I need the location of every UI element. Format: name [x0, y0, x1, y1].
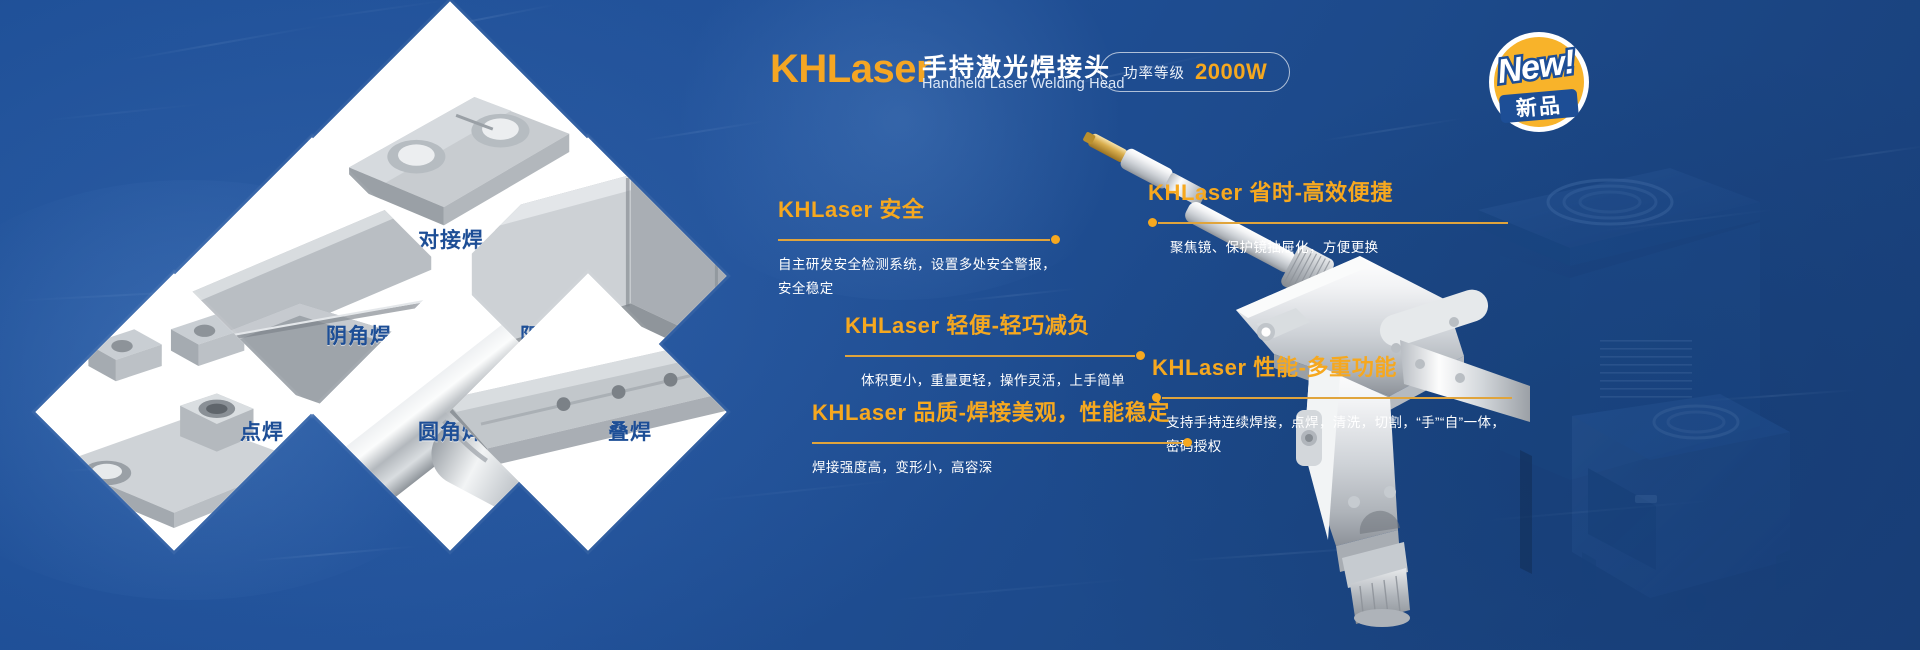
- feature-lightweight: KHLaser 轻便-轻巧减负 体积更小，重量更轻，操作灵活，上手简单: [845, 308, 1145, 393]
- feature-quality-desc: 焊接强度高，变形小，高容深: [812, 456, 1192, 480]
- feature-performance: KHLaser 性能-多重功能 支持手持连续焊接，点焊，清洗，切割，“手”“自”…: [1152, 350, 1512, 458]
- feature-safety-rule: [778, 233, 1060, 247]
- power-rating-label: 功率等级: [1123, 62, 1185, 83]
- feature-time-saving: KHLaser 省时-高效便捷 聚焦镜、保护镜抽屉化，方便更换: [1148, 175, 1508, 260]
- feature-quality: KHLaser 品质-焊接美观，性能稳定 焊接强度高，变形小，高容深: [812, 395, 1192, 480]
- feature-lightweight-rule: [845, 349, 1145, 363]
- gallery-label-lap-weld: 叠焊: [608, 416, 652, 446]
- feature-lightweight-title: KHLaser 轻便-轻巧减负: [845, 308, 1145, 340]
- feature-performance-title: KHLaser 性能-多重功能: [1152, 350, 1512, 382]
- gallery-label-spot-weld: 点焊: [240, 416, 284, 446]
- brand-logo: KHLaser: [770, 47, 931, 92]
- feature-time-saving-rule: [1148, 216, 1508, 230]
- weld-type-gallery: 对接焊 阴角焊: [118, 38, 778, 613]
- feature-safety-title: KHLaser 安全: [778, 192, 1060, 224]
- product-title-en: Handheld Laser Welding Head: [922, 76, 1125, 92]
- feature-quality-title: KHLaser 品质-焊接美观，性能稳定: [812, 395, 1192, 427]
- power-rating-badge: 功率等级 2000W: [1100, 52, 1290, 92]
- feature-safety-desc: 自主研发安全检测系统，设置多处安全警报，安全稳定: [778, 253, 1060, 300]
- feature-time-saving-title: KHLaser 省时-高效便捷: [1148, 175, 1508, 207]
- feature-quality-rule: [812, 436, 1192, 450]
- feature-performance-desc: 支持手持连续焊接，点焊，清洗，切割，“手”“自”一体，密码授权: [1152, 411, 1512, 458]
- feature-performance-rule: [1152, 391, 1512, 405]
- product-banner: 对接焊 阴角焊: [0, 0, 1920, 650]
- power-rating-value: 2000W: [1195, 59, 1267, 85]
- feature-time-saving-desc: 聚焦镜、保护镜抽屉化，方便更换: [1148, 236, 1508, 260]
- feature-lightweight-desc: 体积更小，重量更轻，操作灵活，上手简单: [845, 369, 1145, 393]
- feature-safety: KHLaser 安全 自主研发安全检测系统，设置多处安全警报，安全稳定: [778, 192, 1060, 300]
